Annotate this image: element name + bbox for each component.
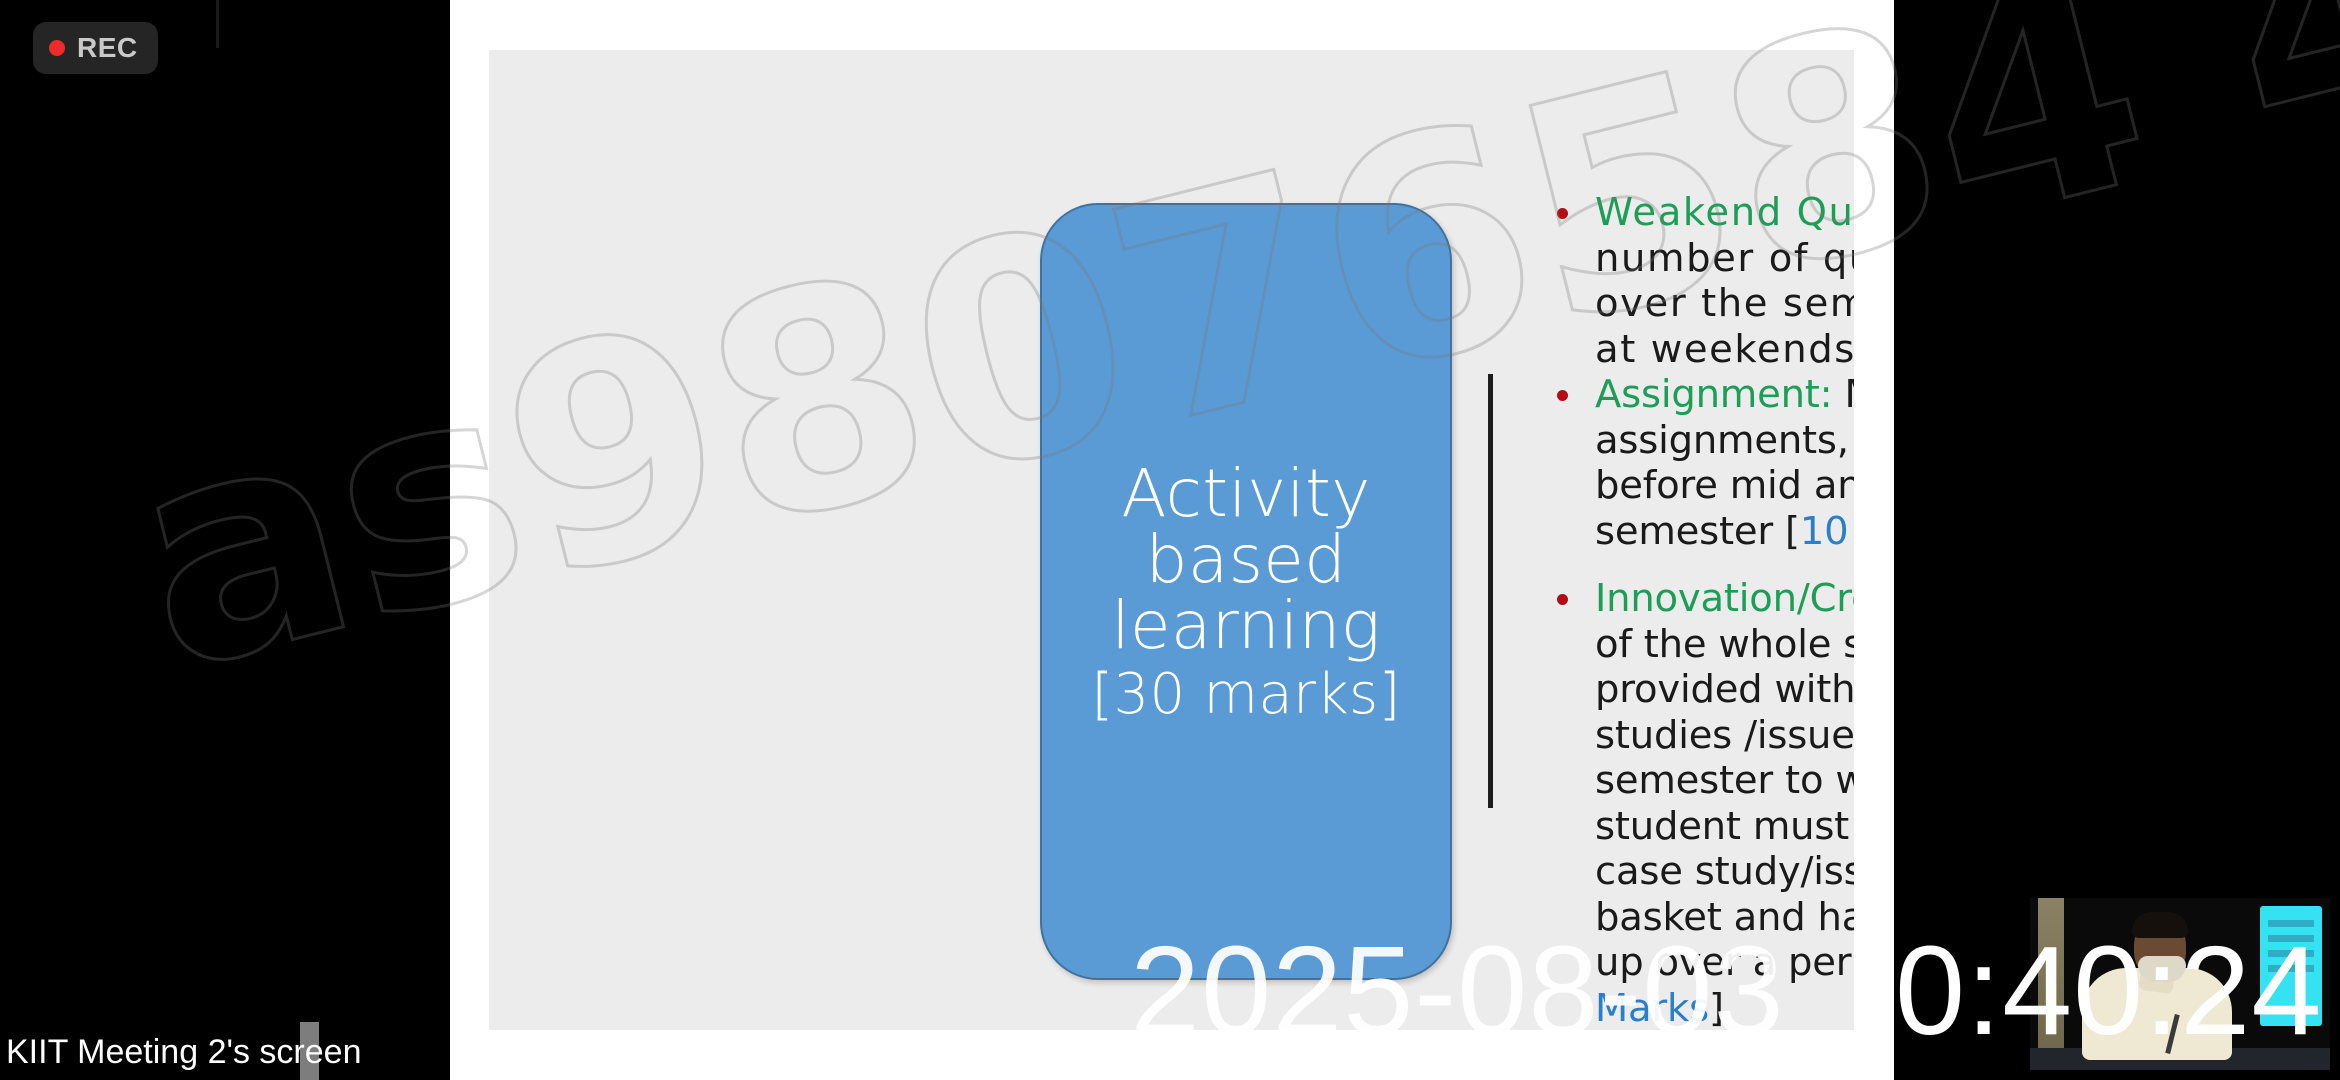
activity-box-line2: based <box>1091 527 1400 593</box>
bullet-heading: Assignment: <box>1595 372 1832 417</box>
bullet-item-quizzes: Weakend Quizzes: Minimum 10 number of qu… <box>1549 190 1854 372</box>
activity-box-line1: Activity <box>1091 461 1400 527</box>
clock-overlay: 0:40:24 <box>1895 928 2322 1054</box>
recording-label: REC <box>77 32 138 64</box>
presentation-slide: Activity based learning [30 marks] Weake… <box>489 50 1854 1030</box>
bullet-dot-icon <box>1557 208 1568 219</box>
bullet-dot-icon <box>1557 594 1568 605</box>
bullet-list: Weakend Quizzes: Minimum 10 number of qu… <box>1549 190 1854 1030</box>
activity-box-marks: [30 marks] <box>1091 667 1400 723</box>
left-letterbox-panel <box>0 0 450 1080</box>
bullet-heading: Innovation/Creation- <box>1595 576 1854 621</box>
activity-box-line3: learning <box>1091 593 1400 659</box>
bullet-dot-icon <box>1557 390 1568 401</box>
bullet-heading: Weakend Quizzes <box>1595 190 1854 235</box>
date-watermark: 2025-08-03 <box>1130 928 1785 1054</box>
decorative-line <box>216 0 219 48</box>
screen-share-window: Activity based learning [30 marks] Weake… <box>0 0 2340 1080</box>
activity-based-learning-box: Activity based learning [30 marks] <box>1040 203 1452 980</box>
bullet-separator <box>1832 372 1844 417</box>
bullet-item-assignment: Assignment: Minimum 02 assignments, pref… <box>1549 372 1854 554</box>
activity-box-text: Activity based learning [30 marks] <box>1077 461 1414 723</box>
recording-badge[interactable]: REC <box>33 22 158 74</box>
screen-share-name: KIIT Meeting 2's screen <box>6 1033 361 1072</box>
vertical-divider <box>1488 374 1493 808</box>
record-dot-icon <box>49 40 65 56</box>
bullet-marks: 10 marks <box>1800 509 1854 554</box>
